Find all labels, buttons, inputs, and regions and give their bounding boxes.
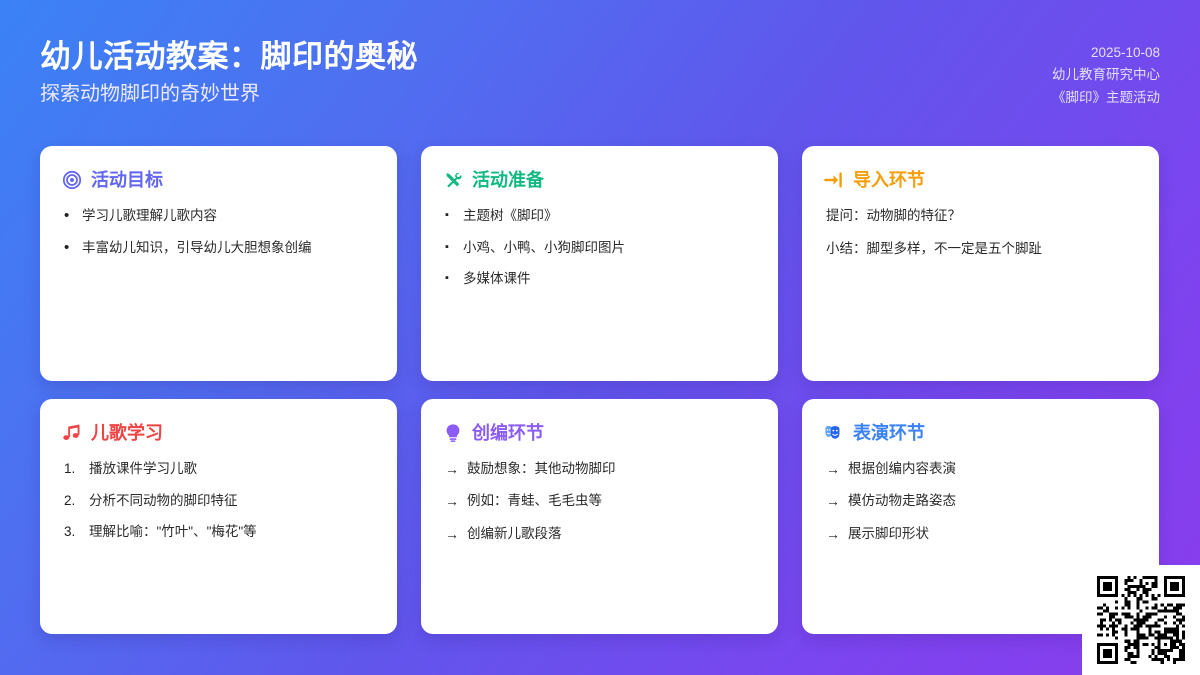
card-grid: 活动目标 • 学习儿歌理解儿歌内容 • 丰富幼儿知识，引导幼儿大胆想象创编 <box>40 146 1160 634</box>
list-item: → 鼓励想象：其他动物脚印 <box>445 459 756 479</box>
list-item: → 根据创编内容表演 <box>826 459 1137 479</box>
list-item: → 创编新儿歌段落 <box>445 524 756 544</box>
card-title: 活动准备 <box>472 171 544 189</box>
list-item: 1. 播放课件学习儿歌 <box>64 459 375 479</box>
card-header: 导入环节 <box>824 170 1137 190</box>
list-item: • 丰富幼儿知识，引导幼儿大胆想象创编 <box>64 238 375 258</box>
list-item-text: 模仿动物走路姿态 <box>848 491 1137 511</box>
list-number: 3. <box>64 522 81 542</box>
music-note-icon <box>62 423 82 443</box>
page-subtitle: 探索动物脚印的奇妙世界 <box>40 82 418 106</box>
list-item-text: 鼓励想象：其他动物脚印 <box>467 459 756 479</box>
slide-header: 幼儿活动教案：脚印的奥秘 探索动物脚印的奇妙世界 2025-10-08 幼儿教育… <box>0 0 1200 136</box>
arrow-marker: → <box>445 491 459 511</box>
arrow-marker: → <box>826 524 840 544</box>
bullet-marker: ▪ <box>445 269 455 288</box>
card-body: ▪ 主题树《脚印》 ▪ 小鸡、小鸭、小狗脚印图片 ▪ 多媒体课件 <box>443 206 756 289</box>
card-title: 创编环节 <box>472 424 544 442</box>
list-item: → 展示脚印形状 <box>826 524 1137 544</box>
arrow-marker: → <box>826 491 840 511</box>
list-item-text: 理解比喻："竹叶"、"梅花"等 <box>89 522 375 542</box>
header-date: 2025-10-08 <box>1091 42 1160 64</box>
list-item: 2. 分析不同动物的脚印特征 <box>64 491 375 511</box>
list-item-text: 播放课件学习儿歌 <box>89 459 375 479</box>
list-item-text: 分析不同动物的脚印特征 <box>89 491 375 511</box>
card-body: • 学习儿歌理解儿歌内容 • 丰富幼儿知识，引导幼儿大胆想象创编 <box>62 206 375 257</box>
card-header: 活动目标 <box>62 170 375 190</box>
arrow-marker: → <box>445 524 459 544</box>
list-item-text: 丰富幼儿知识，引导幼儿大胆想象创编 <box>82 238 375 258</box>
list-item-text: 小鸡、小鸭、小狗脚印图片 <box>463 238 756 258</box>
card-header: 创编环节 <box>443 423 756 443</box>
slide-canvas: 幼儿活动教案：脚印的奥秘 探索动物脚印的奇妙世界 2025-10-08 幼儿教育… <box>0 0 1200 675</box>
list-item-text: 学习儿歌理解儿歌内容 <box>82 206 375 226</box>
list-item-text: 根据创编内容表演 <box>848 459 1137 479</box>
header-topic: 《脚印》主题活动 <box>1052 87 1160 109</box>
card-body: 1. 播放课件学习儿歌 2. 分析不同动物的脚印特征 3. 理解比喻："竹叶"、… <box>62 459 375 542</box>
paragraph-line: 小结：脚型多样，不一定是五个脚趾 <box>826 239 1137 259</box>
lightbulb-icon <box>443 423 463 443</box>
arrow-marker: → <box>445 459 459 479</box>
bullet-marker: • <box>64 238 74 258</box>
header-organization: 幼儿教育研究中心 <box>1052 64 1160 86</box>
target-icon <box>62 170 82 190</box>
bullet-marker: ▪ <box>445 238 455 257</box>
list-item-text: 多媒体课件 <box>463 269 756 289</box>
card-activity-goals[interactable]: 活动目标 • 学习儿歌理解儿歌内容 • 丰富幼儿知识，引导幼儿大胆想象创编 <box>40 146 397 381</box>
list-item-text: 展示脚印形状 <box>848 524 1137 544</box>
list-item: 3. 理解比喻："竹叶"、"梅花"等 <box>64 522 375 542</box>
card-header: 活动准备 <box>443 170 756 190</box>
list-number: 1. <box>64 459 81 479</box>
card-header: 表演环节 <box>824 423 1137 443</box>
paragraph-line: 提问：动物脚的特征？ <box>826 206 1137 226</box>
card-title: 儿歌学习 <box>91 424 163 442</box>
list-number: 2. <box>64 491 81 511</box>
card-body: 提问：动物脚的特征？ 小结：脚型多样，不一定是五个脚趾 <box>824 206 1137 258</box>
list-item: → 例如：青蛙、毛毛虫等 <box>445 491 756 511</box>
bullet-marker: ▪ <box>445 206 455 225</box>
qr-code-icon[interactable] <box>1097 576 1185 664</box>
header-meta-block: 2025-10-08 幼儿教育研究中心 《脚印》主题活动 <box>1052 38 1160 109</box>
list-item: ▪ 主题树《脚印》 <box>445 206 756 226</box>
card-body: → 根据创编内容表演 → 模仿动物走路姿态 → 展示脚印形状 <box>824 459 1137 544</box>
card-body: → 鼓励想象：其他动物脚印 → 例如：青蛙、毛毛虫等 → 创编新儿歌段落 <box>443 459 756 544</box>
header-title-block: 幼儿活动教案：脚印的奥秘 探索动物脚印的奇妙世界 <box>40 38 418 106</box>
page-title: 幼儿活动教案：脚印的奥秘 <box>40 38 418 76</box>
list-item: ▪ 小鸡、小鸭、小狗脚印图片 <box>445 238 756 258</box>
list-item: ▪ 多媒体课件 <box>445 269 756 289</box>
list-item-text: 例如：青蛙、毛毛虫等 <box>467 491 756 511</box>
card-creation-segment[interactable]: 创编环节 → 鼓励想象：其他动物脚印 → 例如：青蛙、毛毛虫等 → 创编新儿歌段… <box>421 399 778 634</box>
card-title: 表演环节 <box>853 424 925 442</box>
card-header: 儿歌学习 <box>62 423 375 443</box>
list-item: → 模仿动物走路姿态 <box>826 491 1137 511</box>
bullet-marker: • <box>64 206 74 226</box>
arrow-list: → 鼓励想象：其他动物脚印 → 例如：青蛙、毛毛虫等 → 创编新儿歌段落 <box>445 459 756 544</box>
bullet-list: • 学习儿歌理解儿歌内容 • 丰富幼儿知识，引导幼儿大胆想象创编 <box>64 206 375 257</box>
arrow-list: → 根据创编内容表演 → 模仿动物走路姿态 → 展示脚印形状 <box>826 459 1137 544</box>
card-title: 活动目标 <box>91 171 163 189</box>
list-item-text: 主题树《脚印》 <box>463 206 756 226</box>
theatre-masks-icon <box>824 423 844 443</box>
card-song-learning[interactable]: 儿歌学习 1. 播放课件学习儿歌 2. 分析不同动物的脚印特征 3. 理解比喻：… <box>40 399 397 634</box>
sign-in-arrow-icon <box>824 170 844 190</box>
tools-icon <box>443 170 463 190</box>
list-item: • 学习儿歌理解儿歌内容 <box>64 206 375 226</box>
card-title: 导入环节 <box>853 171 925 189</box>
qr-panel <box>1082 565 1200 675</box>
list-item-text: 创编新儿歌段落 <box>467 524 756 544</box>
card-introduction-segment[interactable]: 导入环节 提问：动物脚的特征？ 小结：脚型多样，不一定是五个脚趾 <box>802 146 1159 381</box>
card-activity-preparation[interactable]: 活动准备 ▪ 主题树《脚印》 ▪ 小鸡、小鸭、小狗脚印图片 ▪ 多媒体课件 <box>421 146 778 381</box>
arrow-marker: → <box>826 459 840 479</box>
numbered-list: 1. 播放课件学习儿歌 2. 分析不同动物的脚印特征 3. 理解比喻："竹叶"、… <box>64 459 375 542</box>
bullet-list: ▪ 主题树《脚印》 ▪ 小鸡、小鸭、小狗脚印图片 ▪ 多媒体课件 <box>445 206 756 289</box>
